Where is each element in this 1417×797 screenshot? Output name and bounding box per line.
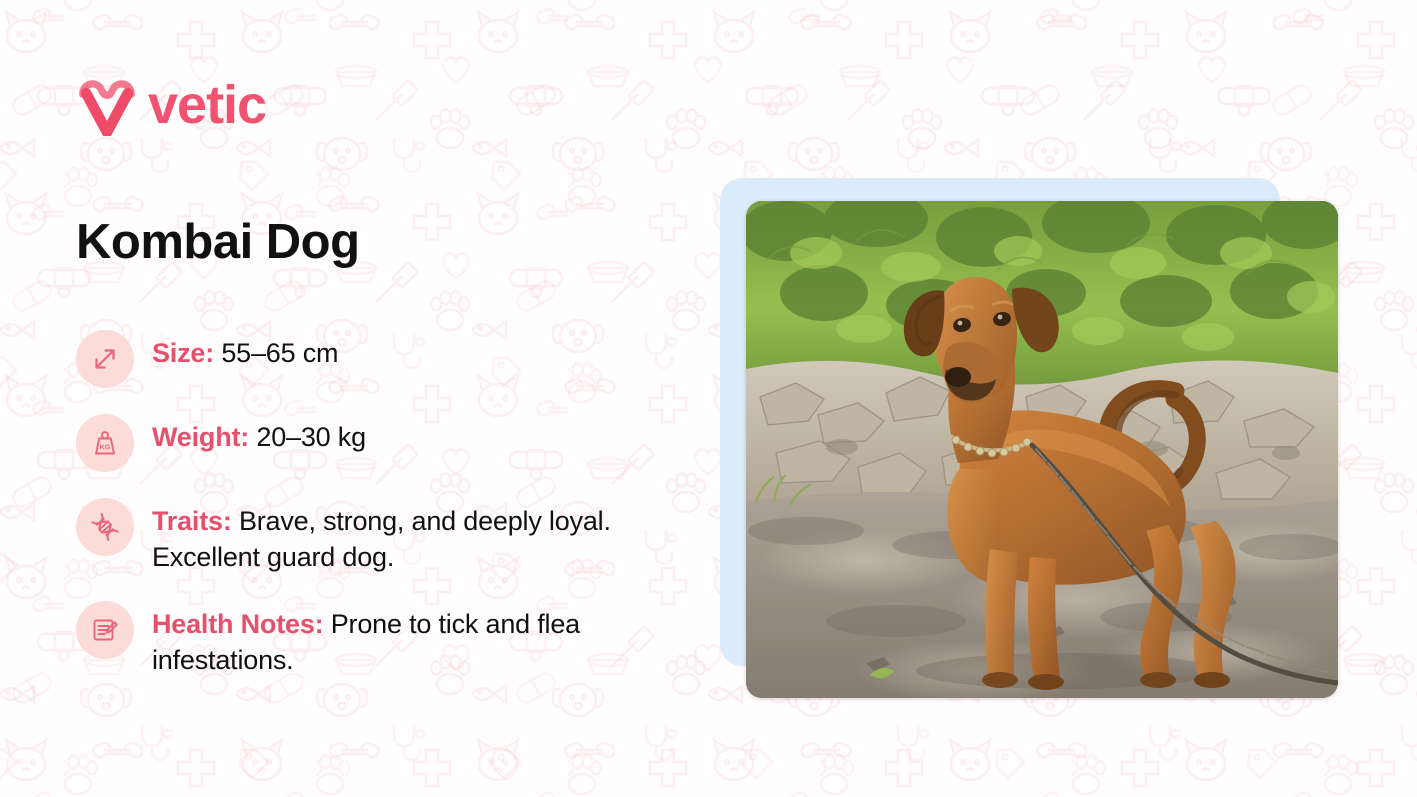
- heart-v-logo-icon: [76, 74, 138, 136]
- info-label-traits: Traits:: [152, 506, 232, 536]
- info-label-health-notes: Health Notes:: [152, 609, 323, 639]
- poster-canvas: vetic Kombai Dog Size: 55–65 cm: [0, 0, 1417, 797]
- kombai-dog-photo[interactable]: [746, 201, 1338, 698]
- info-value-weight: 20–30 kg: [249, 422, 366, 452]
- breed-info-list: Size: 55–65 cm KG Weight: 20–30 kg: [76, 330, 701, 679]
- info-value-size: 55–65 cm: [214, 338, 338, 368]
- info-row-weight: KG Weight: 20–30 kg: [76, 414, 701, 472]
- info-text-weight: Weight: 20–30 kg: [152, 414, 366, 456]
- kg-weight-icon: KG: [76, 414, 134, 472]
- svg-text:KG: KG: [99, 442, 110, 451]
- vetic-logo[interactable]: vetic: [76, 74, 266, 136]
- notepad-pencil-icon: [76, 601, 134, 659]
- logo-wordmark: vetic: [148, 78, 266, 132]
- info-label-size: Size:: [152, 338, 214, 368]
- photo-block: [720, 178, 1338, 698]
- info-text-size: Size: 55–65 cm: [152, 330, 338, 372]
- info-text-traits: Traits: Brave, strong, and deeply loyal.…: [152, 498, 701, 575]
- info-label-weight: Weight:: [152, 422, 249, 452]
- info-text-health-notes: Health Notes: Prone to tick and flea inf…: [152, 601, 701, 678]
- info-row-size: Size: 55–65 cm: [76, 330, 701, 388]
- info-row-traits: Traits: Brave, strong, and deeply loyal.…: [76, 498, 701, 575]
- dna-helix-icon: [76, 498, 134, 556]
- page-title: Kombai Dog: [76, 216, 360, 270]
- diagonal-resize-arrow-icon: [76, 330, 134, 388]
- info-row-health-notes: Health Notes: Prone to tick and flea inf…: [76, 601, 701, 678]
